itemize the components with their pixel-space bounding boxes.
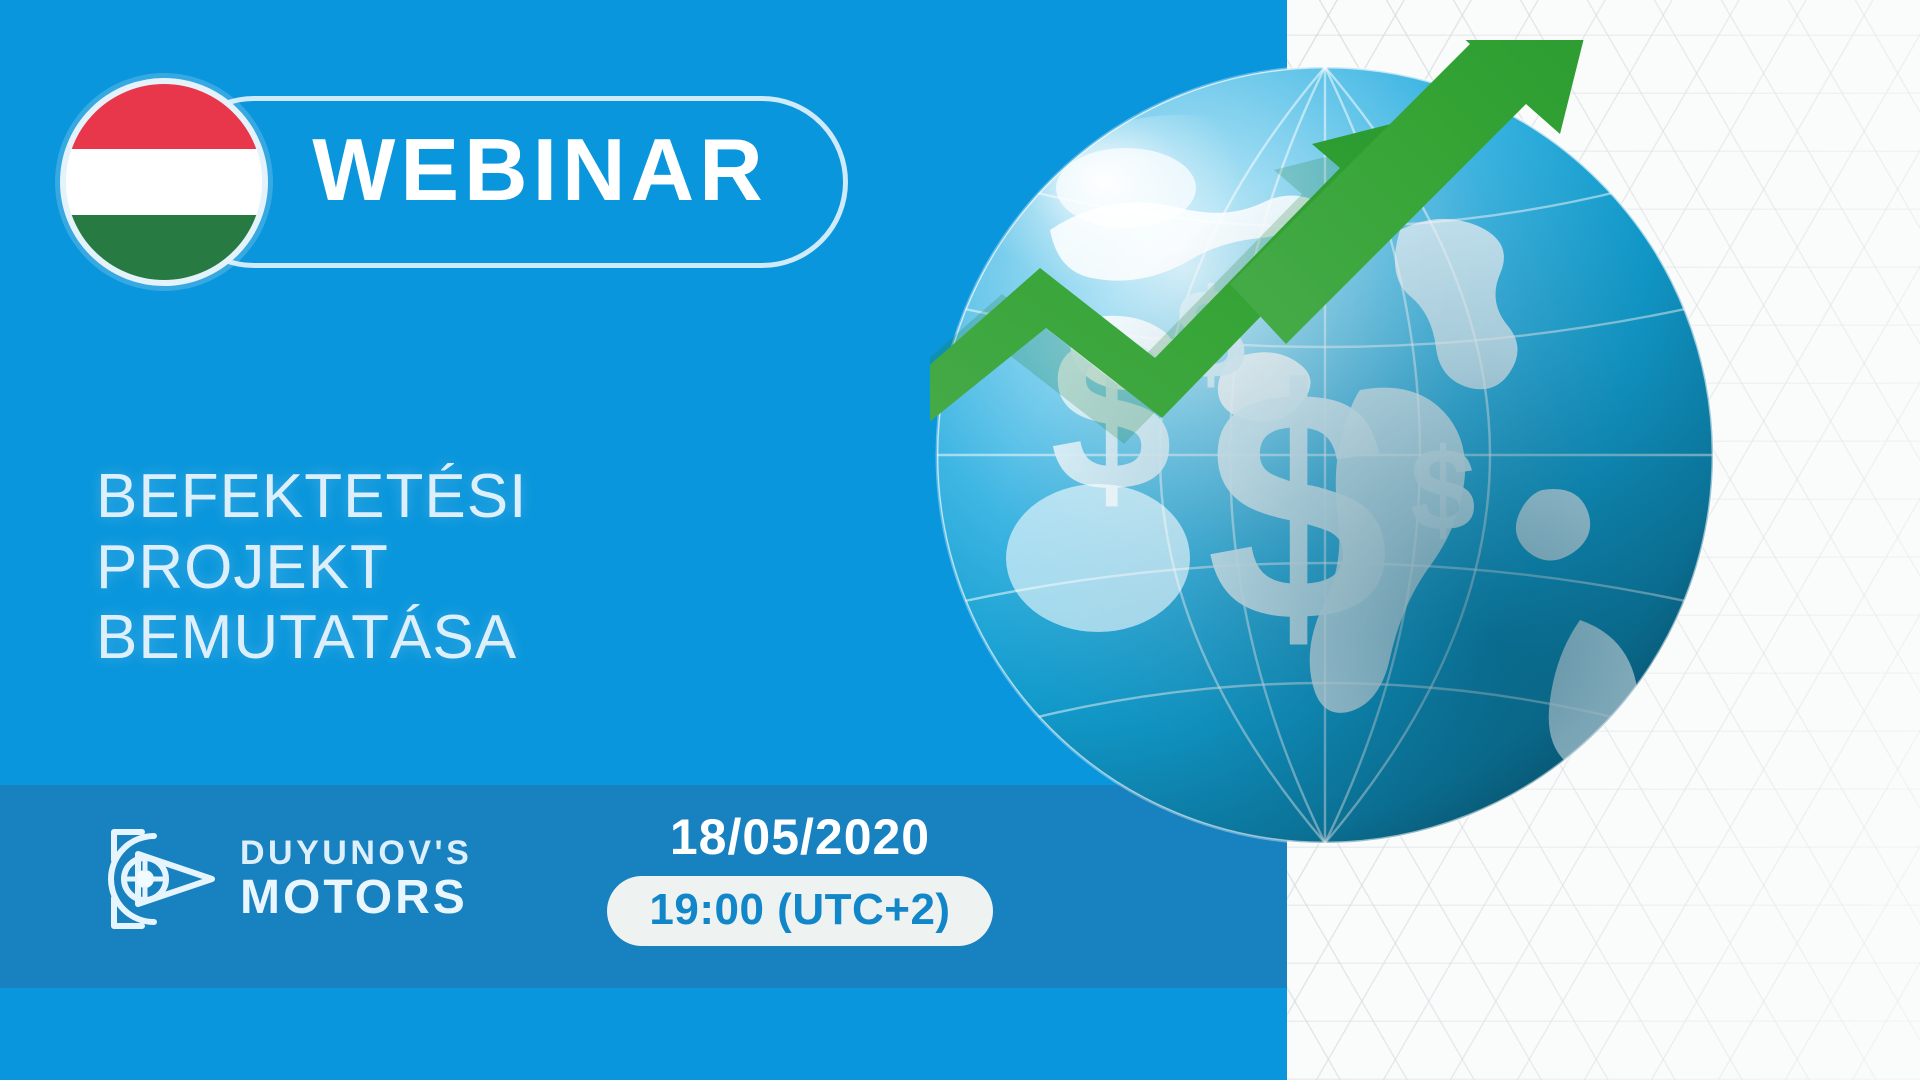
brand-name-line-1: DUYUNOV'S — [240, 836, 472, 870]
brand-lockup: DUYUNOV'S MOTORS — [92, 820, 472, 938]
headline-line-2: PROJEKT — [96, 533, 527, 604]
flag-stripe-green — [66, 215, 262, 280]
duyunovs-motors-logo-icon — [92, 820, 220, 938]
webinar-banner: $ $ $ $ — [0, 0, 1920, 1080]
flag-stripe-red — [66, 84, 262, 149]
arrow-head-path — [1230, 40, 1602, 344]
headline-line-3: BEMUTATÁSA — [96, 603, 527, 674]
webinar-date: 18/05/2020 — [590, 812, 1010, 862]
hungary-flag-icon — [60, 78, 268, 286]
blue-panel-footer-strip — [0, 1028, 1287, 1080]
growth-arrow-icon — [930, 40, 1750, 580]
brand-name-line-2: MOTORS — [240, 874, 472, 922]
headline: BEFEKTETÉSI PROJEKT BEMUTATÁSA — [96, 462, 527, 674]
flag-stripe-white — [66, 149, 262, 214]
webinar-label: WEBINAR — [280, 126, 800, 214]
schedule-block: 18/05/2020 19:00 (UTC+2) — [590, 812, 1010, 946]
headline-line-1: BEFEKTETÉSI — [96, 462, 527, 533]
webinar-time-pill: 19:00 (UTC+2) — [607, 876, 992, 946]
webinar-badge-row: WEBINAR — [60, 78, 820, 298]
brand-text: DUYUNOV'S MOTORS — [240, 836, 472, 922]
globe-graphic: $ $ $ $ — [930, 60, 1750, 900]
